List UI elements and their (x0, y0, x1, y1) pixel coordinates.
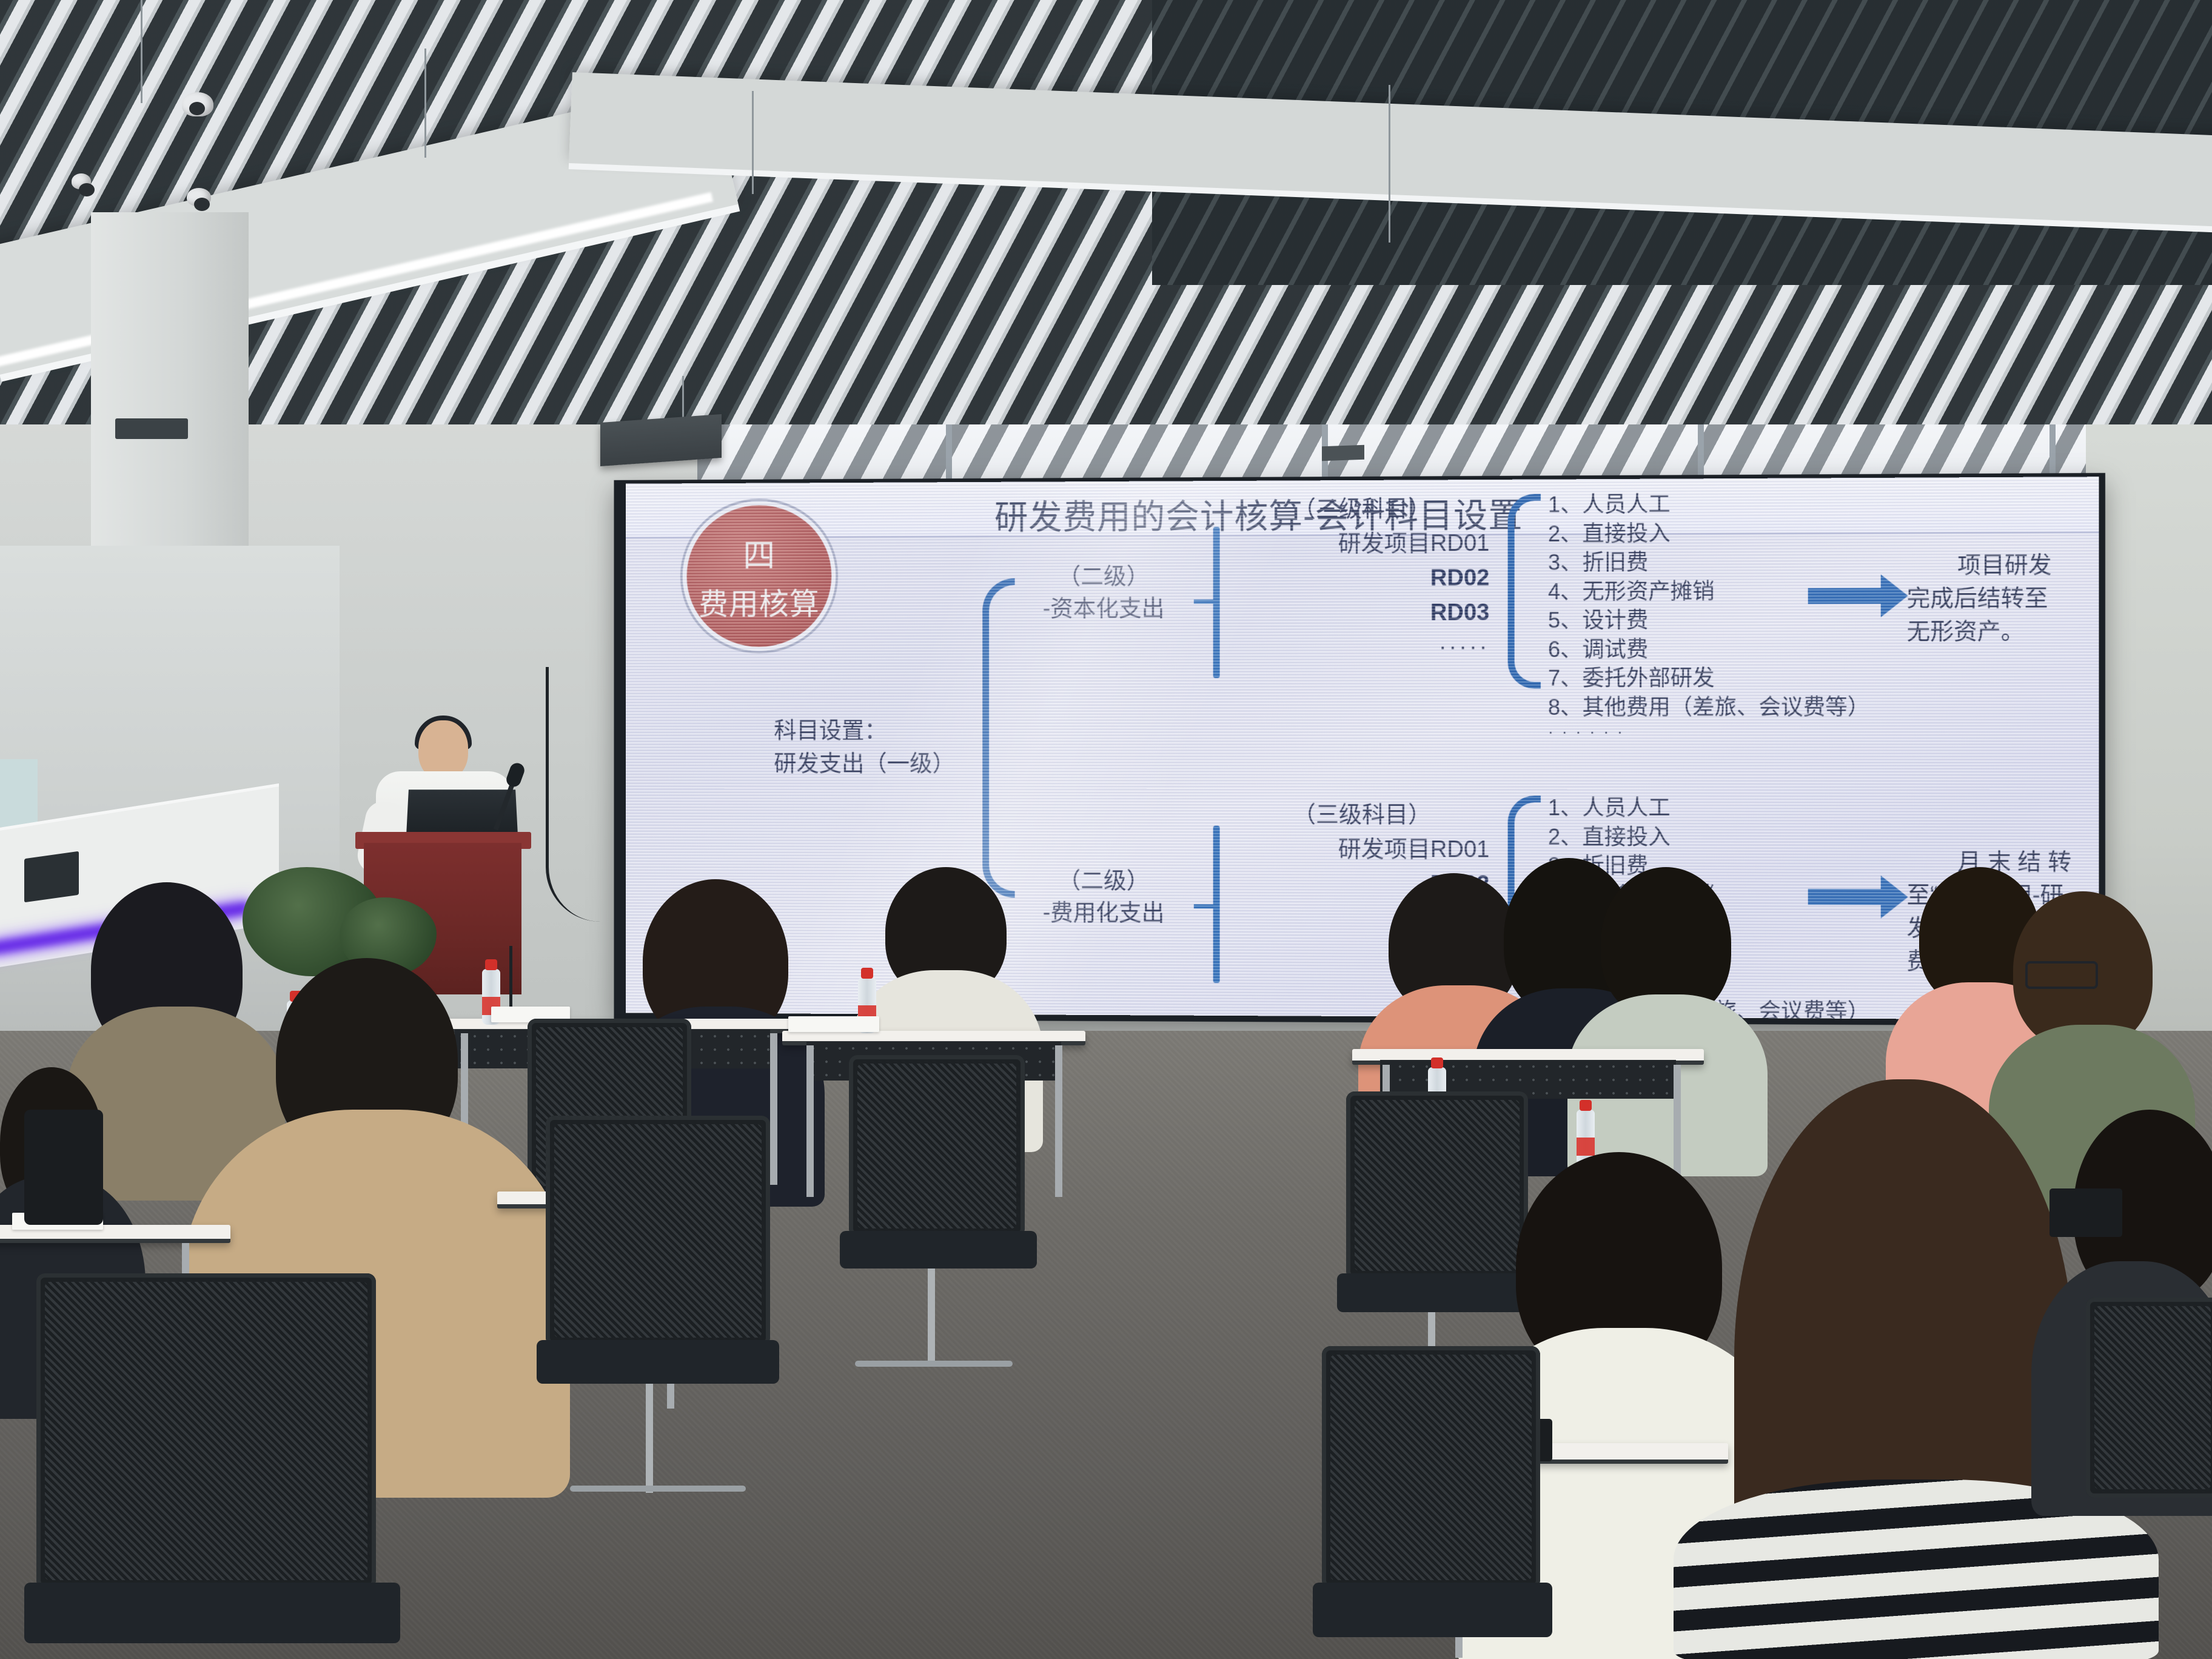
root-brace (982, 578, 1014, 898)
section-badge-label: 费用核算 (699, 580, 820, 623)
cost-item: 7、委托外部研发 (1548, 663, 1869, 692)
level3-tag: （三级科目） (1235, 492, 1489, 528)
outcome-line: 项目研发 (1907, 549, 2099, 583)
cost-item: 8、其他费用（差旅、会议费等） (1548, 692, 1869, 722)
av-cable (546, 667, 612, 922)
presentation-screen[interactable]: 研发费用的会计核算-会计科目设置 四 费用核算 科目设置： 研发支出（一级） （… (626, 477, 2099, 1020)
desk (1352, 1049, 1704, 1065)
ceiling-hanger (752, 91, 754, 194)
cost-item: 5、设计费 (1548, 605, 1869, 635)
smartphone[interactable] (2049, 1188, 2122, 1237)
desk-leg (770, 1033, 777, 1185)
wall-sign (0, 759, 38, 827)
cost-item: 3、折旧费 (1548, 547, 1869, 577)
screenshot-root: 研发费用的会计核算-会计科目设置 四 费用核算 科目设置： 研发支出（一级） （… (0, 0, 2212, 1659)
level3-capitalized: （三级科目） 研发项目RD01 RD02 RD03 ····· (1235, 492, 1489, 665)
level2-capitalized: （二级） -资本化支出 (1014, 561, 1194, 626)
ceiling-hanger (141, 0, 142, 103)
cost-item: 6、调试费 (1548, 634, 1869, 664)
cost-item: 2、直接投入 (1548, 822, 1869, 852)
desk (782, 1031, 1085, 1045)
level3-more: ····· (1235, 631, 1489, 666)
account-root-label: 科目设置： 研发支出（一级） (774, 714, 955, 780)
level2-label: -费用化支出 (1014, 897, 1194, 930)
flow-arrow-capitalized (1808, 588, 1882, 605)
flow-arrow-expensed (1808, 889, 1882, 905)
connector-tick (1194, 904, 1213, 908)
cost-item: 1、人员人工 (1548, 793, 1869, 822)
level3-item: RD02 (1235, 561, 1489, 596)
outcome-line: 完成后结转至 (1907, 582, 2099, 615)
cost-more: ······ (1548, 722, 1869, 743)
level2-stem-expensed (1213, 826, 1220, 983)
level2-stem-capitalized (1213, 527, 1220, 678)
account-root-line2: 研发支出（一级） (774, 748, 955, 781)
paper-handout (788, 1016, 879, 1032)
connector-tick (1194, 600, 1213, 604)
outcome-capitalized: 项目研发 完成后结转至 无形资产。 (1907, 549, 2099, 649)
level2-expensed: （二级） -费用化支出 (1014, 865, 1194, 930)
cost-items-capitalized: 1、人员人工 2、直接投入 3、折旧费 4、无形资产摊销 5、设计费 6、调试费… (1548, 489, 1869, 742)
level3-tag: （三级科目） (1235, 798, 1489, 833)
account-root-line1: 科目设置： (774, 714, 955, 748)
section-badge: 四 费用核算 (683, 501, 836, 651)
level2-tag: （二级） (1014, 561, 1194, 594)
counter-display-card (24, 851, 79, 903)
desk-leg (806, 1045, 814, 1197)
level2-label: -资本化支出 (1014, 593, 1194, 626)
cost-item: 2、直接投入 (1548, 518, 1869, 548)
cost-item: 1、人员人工 (1548, 489, 1869, 519)
dome-camera-icon (72, 173, 91, 189)
tablet-device[interactable] (24, 1110, 103, 1225)
cost-brace-capitalized (1508, 494, 1541, 689)
ceiling-speaker-secondary (1322, 445, 1364, 461)
section-badge-number: 四 (743, 529, 775, 576)
level3-item: 研发项目RD01 (1235, 833, 1489, 868)
dome-camera-icon (182, 92, 213, 116)
outcome-line: 无形资产。 (1907, 615, 2099, 649)
dome-camera-icon (187, 188, 211, 206)
level3-item: RD03 (1235, 595, 1489, 631)
ceiling-hanger (424, 49, 426, 158)
desk-leg (1055, 1045, 1062, 1197)
wall-vent (115, 418, 188, 439)
level2-tag: （二级） (1014, 865, 1194, 898)
ceiling-hanger (1389, 85, 1390, 243)
level3-item: 研发项目RD01 (1235, 526, 1489, 562)
ceiling-speaker (600, 414, 722, 466)
